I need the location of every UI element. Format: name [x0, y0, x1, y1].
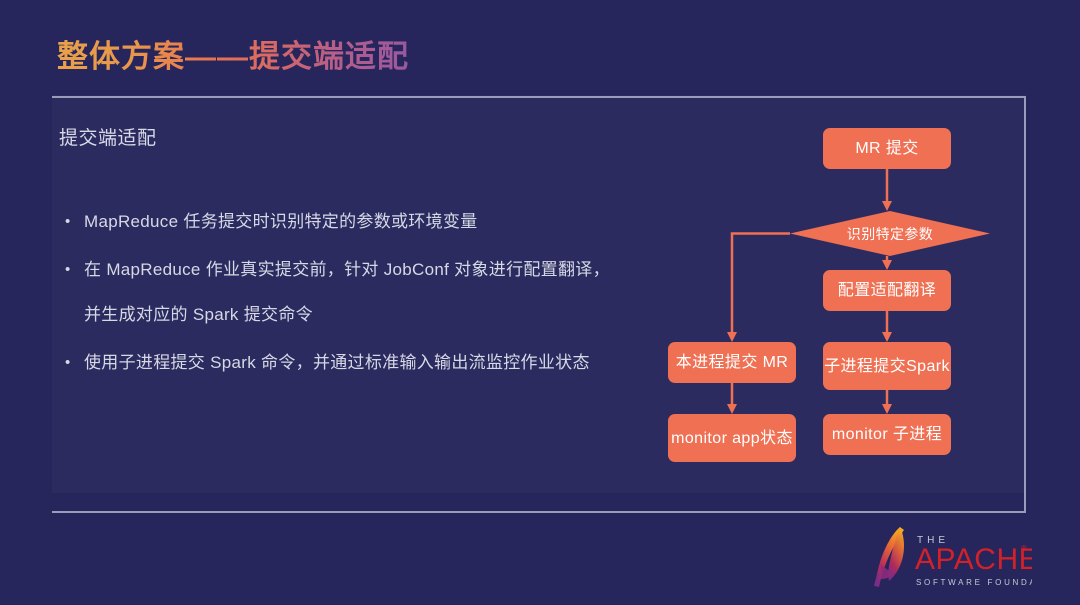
flow-node-mr-submit[interactable]: MR 提交	[823, 128, 951, 169]
flow-node-monitor-subprocess[interactable]: monitor 子进程	[823, 414, 951, 455]
slide-title: 整体方案——提交端适配	[57, 34, 409, 80]
arrowhead-config-to-subproc	[882, 332, 892, 342]
flow-node-monitor-app[interactable]: monitor app 状态	[668, 414, 796, 462]
bullet-text: MapReduce 任务提交时识别特定的参数或环境变量	[84, 212, 478, 231]
bullet-item-1: MapReduce 任务提交时识别特定的参数或环境变量	[59, 210, 659, 234]
bullet-text-continuation: 并生成对应的 Spark 提交命令	[84, 303, 659, 327]
bullet-text: 在 MapReduce 作业真实提交前，针对 JobConf 对象进行配置翻译，	[84, 260, 610, 279]
flow-node-local-submit-mr[interactable]: 本进程提交 MR	[668, 342, 796, 383]
flowchart: MR 提交 识别特定参数 配置适配翻译 子进程提交 Spark monitor …	[660, 110, 1020, 490]
bullet-text: 使用子进程提交 Spark 命令，并通过标准输入输出流监控作业状态	[84, 353, 590, 372]
logo-tagline: SOFTWARE FOUNDATION	[916, 578, 1032, 587]
flow-node-config-translate[interactable]: 配置适配翻译	[823, 270, 951, 311]
logo-registered-mark: ®	[1021, 544, 1027, 553]
apache-software-foundation-logo: THE APACHE ® SOFTWARE FOUNDATION	[866, 521, 1032, 593]
arrowhead-decision-to-local-mr	[727, 332, 737, 342]
arrowhead-mr-to-decision	[882, 201, 892, 211]
section-subheading: 提交端适配	[59, 125, 157, 153]
flow-node-label-line2: Spark	[906, 356, 950, 377]
apache-logo-svg: THE APACHE ® SOFTWARE FOUNDATION	[866, 521, 1032, 593]
arrowhead-decision-to-config	[882, 260, 892, 270]
flow-node-label-line1: monitor app	[671, 428, 760, 449]
arrowhead-subproc-to-monitor	[882, 404, 892, 414]
edge-decision-to-local-mr	[732, 234, 790, 335]
flow-node-label-line2: 状态	[760, 428, 793, 449]
apache-feather-icon	[875, 527, 904, 587]
flow-node-subprocess-spark[interactable]: 子进程提交 Spark	[823, 342, 951, 390]
logo-word-apache: APACHE	[915, 543, 1032, 576]
identify-params-diamond	[790, 211, 990, 256]
bullet-item-3: 使用子进程提交 Spark 命令，并通过标准输入输出流监控作业状态	[59, 351, 659, 375]
flow-node-label-line1: 子进程提交	[824, 356, 906, 377]
bullet-item-2: 在 MapReduce 作业真实提交前，针对 JobConf 对象进行配置翻译，…	[59, 258, 659, 327]
bullet-list: MapReduce 任务提交时识别特定的参数或环境变量 在 MapReduce …	[59, 210, 659, 399]
arrowhead-local-mr-to-monitor-app	[727, 404, 737, 414]
